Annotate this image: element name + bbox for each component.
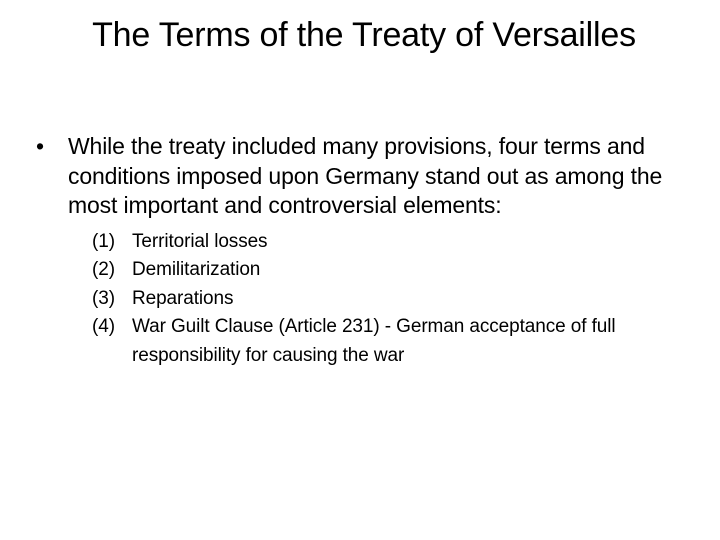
list-item-number: (4) (92, 313, 126, 342)
presentation-slide: The Terms of the Treaty of Versailles • … (0, 0, 720, 540)
bullet-list-item: • While the treaty included many provisi… (0, 132, 720, 221)
list-item-number: (1) (92, 228, 126, 257)
slide-body: • While the treaty included many provisi… (0, 132, 720, 370)
numbered-list-item: (4) War Guilt Clause (Article 231) - Ger… (0, 313, 720, 370)
list-item-number: (3) (92, 285, 126, 314)
page-title: The Terms of the Treaty of Versailles (36, 14, 692, 56)
numbered-list: (1) Territorial losses (2) Demilitarizat… (0, 228, 720, 371)
list-item-number: (2) (92, 256, 126, 285)
list-item-label: Demilitarization (132, 256, 690, 285)
bullet-point-icon: • (36, 132, 44, 162)
bullet-item-label: While the treaty included many provision… (68, 132, 682, 221)
list-item-label: Territorial losses (132, 228, 690, 257)
numbered-list-item: (3) Reparations (0, 285, 720, 314)
list-item-label: War Guilt Clause (Article 231) - German … (132, 313, 690, 370)
numbered-list-item: (2) Demilitarization (0, 256, 720, 285)
list-item-label: Reparations (132, 285, 690, 314)
numbered-list-item: (1) Territorial losses (0, 228, 720, 257)
